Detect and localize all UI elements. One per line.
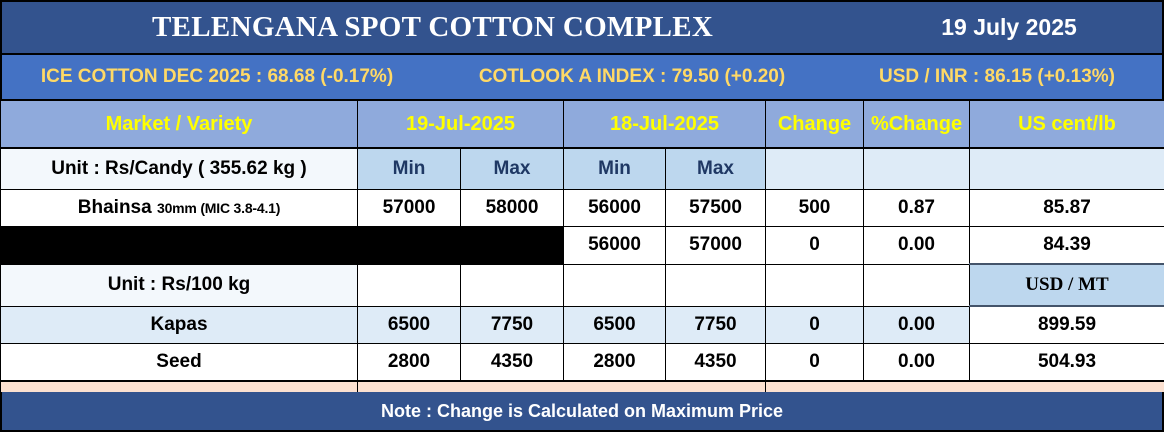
unit-candy-row: Unit : Rs/Candy ( 355.62 kg ) Min Max Mi…: [1, 148, 1164, 190]
title-bar: TELENGANA SPOT COTTON COMPLEX 19 July 20…: [0, 0, 1164, 55]
subhead-uscent-blank: [970, 148, 1164, 190]
cell-pct-change: 0.87: [864, 190, 970, 227]
cell-us-cent-lb: 84.39: [970, 227, 1164, 265]
col-change: Change: [766, 100, 864, 148]
ticker-usd-inr: USD / INR : 86.15 (+0.13%): [832, 66, 1162, 88]
cell-usd-mt: 504.93: [970, 344, 1164, 382]
usd-mt-header: USD / MT: [970, 264, 1164, 306]
cell-change: 0: [766, 306, 864, 344]
cell-today-min-blackout: [358, 227, 461, 265]
cotton-price-board: TELENGANA SPOT COTTON COMPLEX 19 July 20…: [0, 0, 1164, 432]
cell-today-max: 4350: [461, 344, 564, 382]
cell-today-min: 6500: [358, 306, 461, 344]
cell-today-max: 58000: [461, 190, 564, 227]
subhead-prev-max: Max: [666, 148, 766, 190]
table-row: 56000 57000 0 0.00 84.39: [1, 227, 1164, 265]
cell-prev-max: 57000: [666, 227, 766, 265]
price-table: Market / Variety 19-Jul-2025 18-Jul-2025…: [0, 99, 1164, 422]
subhead-today-max: Max: [461, 148, 564, 190]
cell-prev-min: 2800: [564, 344, 666, 382]
unit-kg-blank-1: [358, 264, 461, 306]
cell-pct-change: 0.00: [864, 344, 970, 382]
col-date-prev: 18-Jul-2025: [564, 100, 766, 148]
cell-prev-min: 6500: [564, 306, 666, 344]
cell-today-max: 7750: [461, 306, 564, 344]
ticker-cotlook-index: COTLOOK A INDEX : 79.50 (+0.20): [432, 66, 832, 88]
variety-name: Bhainsa: [78, 197, 152, 218]
subhead-change-blank: [766, 148, 864, 190]
cell-prev-min: 56000: [564, 227, 666, 265]
cell-today-min: 57000: [358, 190, 461, 227]
ticker-ice-cotton: ICE COTTON DEC 2025 : 68.68 (-0.17%): [2, 66, 432, 88]
unit-kg-blank-3: [564, 264, 666, 306]
cell-prev-max: 7750: [666, 306, 766, 344]
table-row: Seed 2800 4350 2800 4350 0 0.00 504.93: [1, 344, 1164, 382]
unit-kg-label: Unit : Rs/100 kg: [1, 264, 358, 306]
table-header-row: Market / Variety 19-Jul-2025 18-Jul-2025…: [1, 100, 1164, 148]
subhead-today-min: Min: [358, 148, 461, 190]
unit-kg-blank-2: [461, 264, 564, 306]
row-name-bhainsa: Bhainsa 30mm (MIC 3.8-4.1): [1, 190, 358, 227]
cell-change: 500: [766, 190, 864, 227]
market-ticker-bar: ICE COTTON DEC 2025 : 68.68 (-0.17%) COT…: [0, 55, 1164, 99]
page-title: TELENGANA SPOT COTTON COMPLEX: [152, 2, 712, 53]
note-text: Note : Change is Calculated on Maximum P…: [381, 401, 783, 422]
unit-candy-label: Unit : Rs/Candy ( 355.62 kg ): [1, 148, 358, 190]
col-pct-change: %Change: [864, 100, 970, 148]
row-name-seed: Seed: [1, 344, 358, 382]
note-bar: Note : Change is Calculated on Maximum P…: [0, 392, 1164, 432]
col-market-variety: Market / Variety: [1, 100, 358, 148]
cell-pct-change: 0.00: [864, 306, 970, 344]
subhead-prev-min: Min: [564, 148, 666, 190]
row-name-blackout: [1, 227, 358, 265]
unit-kg-row: Unit : Rs/100 kg USD / MT: [1, 264, 1164, 306]
unit-kg-blank-4: [666, 264, 766, 306]
cell-today-max-blackout: [461, 227, 564, 265]
unit-kg-blank-6: [864, 264, 970, 306]
report-date: 19 July 2025: [874, 2, 1144, 53]
cell-prev-max: 4350: [666, 344, 766, 382]
cell-today-min: 2800: [358, 344, 461, 382]
cell-usd-mt: 899.59: [970, 306, 1164, 344]
cell-prev-min: 56000: [564, 190, 666, 227]
cell-change: 0: [766, 344, 864, 382]
cell-pct-change: 0.00: [864, 227, 970, 265]
table-row: Bhainsa 30mm (MIC 3.8-4.1) 57000 58000 5…: [1, 190, 1164, 227]
cell-change: 0: [766, 227, 864, 265]
cell-prev-max: 57500: [666, 190, 766, 227]
row-name-kapas: Kapas: [1, 306, 358, 344]
subhead-pct-blank: [864, 148, 970, 190]
variety-spec: 30mm (MIC 3.8-4.1): [157, 200, 280, 216]
col-us-cent-lb: US cent/lb: [970, 100, 1164, 148]
table-row: Kapas 6500 7750 6500 7750 0 0.00 899.59: [1, 306, 1164, 344]
unit-kg-blank-5: [766, 264, 864, 306]
col-date-today: 19-Jul-2025: [358, 100, 564, 148]
cell-us-cent-lb: 85.87: [970, 190, 1164, 227]
